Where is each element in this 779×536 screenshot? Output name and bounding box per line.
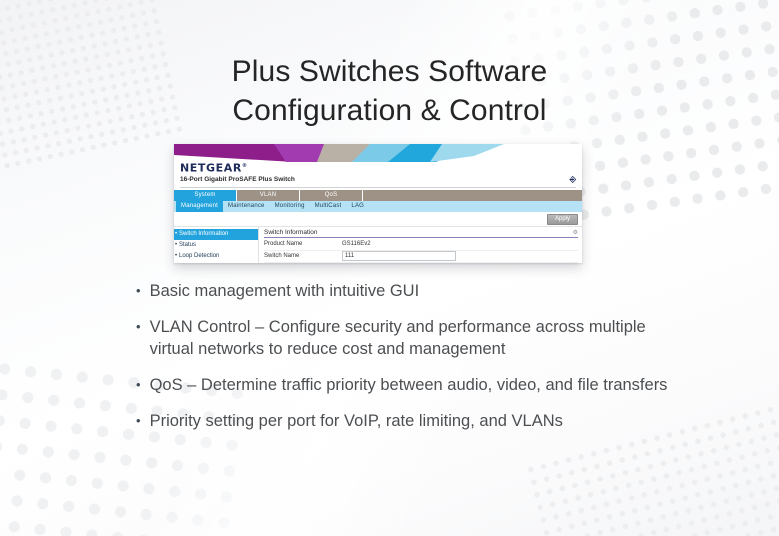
bullet-text: Priority setting per port for VoIP, rate… [150, 410, 676, 432]
bullet-marker-icon: • [136, 410, 141, 432]
switch-ui-content: Switch Information Status Loop Detection… [174, 227, 582, 263]
switch-model-line: 16-Port Gigabit ProSAFE Plus Switch ⎆ [180, 175, 576, 188]
apply-row: Apply [174, 212, 582, 227]
bullet-marker-icon: • [136, 316, 141, 338]
subtab-lag[interactable]: LAG [346, 201, 369, 212]
bullet-text: Basic management with intuitive GUI [150, 280, 676, 302]
switch-model-label: 16-Port Gigabit ProSAFE Plus Switch [180, 175, 295, 185]
switch-ui-brand-row: NETGEAR® 16-Port Gigabit ProSAFE Plus Sw… [174, 160, 582, 188]
product-name-label: Product Name [264, 241, 342, 247]
primary-tab-bar: System VLAN QoS [174, 190, 582, 201]
secondary-tab-bar: Management Maintenance Monitoring MultiC… [174, 201, 582, 212]
list-item: • Priority setting per port for VoIP, ra… [136, 410, 676, 432]
field-row-switch-name: Switch Name 111 [264, 251, 578, 263]
list-item: • VLAN Control – Configure security and … [136, 316, 676, 360]
page-title: Plus Switches Software Configuration & C… [0, 52, 779, 130]
bullet-marker-icon: • [136, 280, 141, 302]
tab-vlan[interactable]: VLAN [237, 190, 300, 201]
page-title-line-2: Configuration & Control [0, 91, 779, 130]
switch-ui-screenshot: NETGEAR® 16-Port Gigabit ProSAFE Plus Sw… [174, 144, 582, 263]
switch-name-label: Switch Name [264, 253, 342, 259]
panel-title-row: Switch Information ⚙ [264, 229, 578, 238]
product-name-value: GS116Ev2 [342, 241, 371, 247]
list-item: • Basic management with intuitive GUI [136, 280, 676, 302]
tab-bar-filler [363, 190, 582, 201]
list-item: • QoS – Determine traffic priority betwe… [136, 374, 676, 396]
feature-bullet-list: • Basic management with intuitive GUI • … [136, 280, 676, 446]
sidebar-item-status[interactable]: Status [174, 240, 258, 251]
switch-ui-body: NETGEAR® 16-Port Gigabit ProSAFE Plus Sw… [174, 160, 582, 263]
switch-name-input[interactable]: 111 [342, 251, 456, 261]
slide-canvas: Plus Switches Software Configuration & C… [0, 0, 779, 536]
netgear-logo-text: NETGEAR [180, 162, 242, 175]
sidebar-item-loop-detection[interactable]: Loop Detection [174, 251, 258, 262]
tab-system[interactable]: System [174, 190, 237, 201]
sidebar-item-switch-information[interactable]: Switch Information [174, 229, 258, 240]
subtab-multicast[interactable]: MultiCast [310, 201, 347, 212]
tab-qos[interactable]: QoS [300, 190, 363, 201]
logout-icon[interactable]: ⎆ [570, 176, 576, 184]
apply-button[interactable]: Apply [547, 214, 578, 225]
switch-ui-sidebar: Switch Information Status Loop Detection [174, 227, 259, 263]
netgear-logo: NETGEAR® [180, 160, 576, 175]
page-title-line-1: Plus Switches Software [232, 55, 548, 88]
subtab-maintenance[interactable]: Maintenance [223, 201, 270, 212]
panel-title-label: Switch Information [264, 229, 317, 236]
decorative-banner [174, 144, 582, 162]
switch-information-panel: Switch Information ⚙ Product Name GS116E… [259, 227, 582, 263]
bullet-marker-icon: • [136, 374, 141, 396]
trademark-symbol: ® [242, 163, 248, 169]
bullet-text: VLAN Control – Configure security and pe… [150, 316, 676, 360]
help-icon[interactable]: ⚙ [573, 229, 578, 236]
bullet-text: QoS – Determine traffic priority between… [150, 374, 676, 396]
subtab-monitoring[interactable]: Monitoring [270, 201, 310, 212]
field-row-product-name: Product Name GS116Ev2 [264, 239, 578, 251]
subtab-management[interactable]: Management [176, 201, 223, 212]
